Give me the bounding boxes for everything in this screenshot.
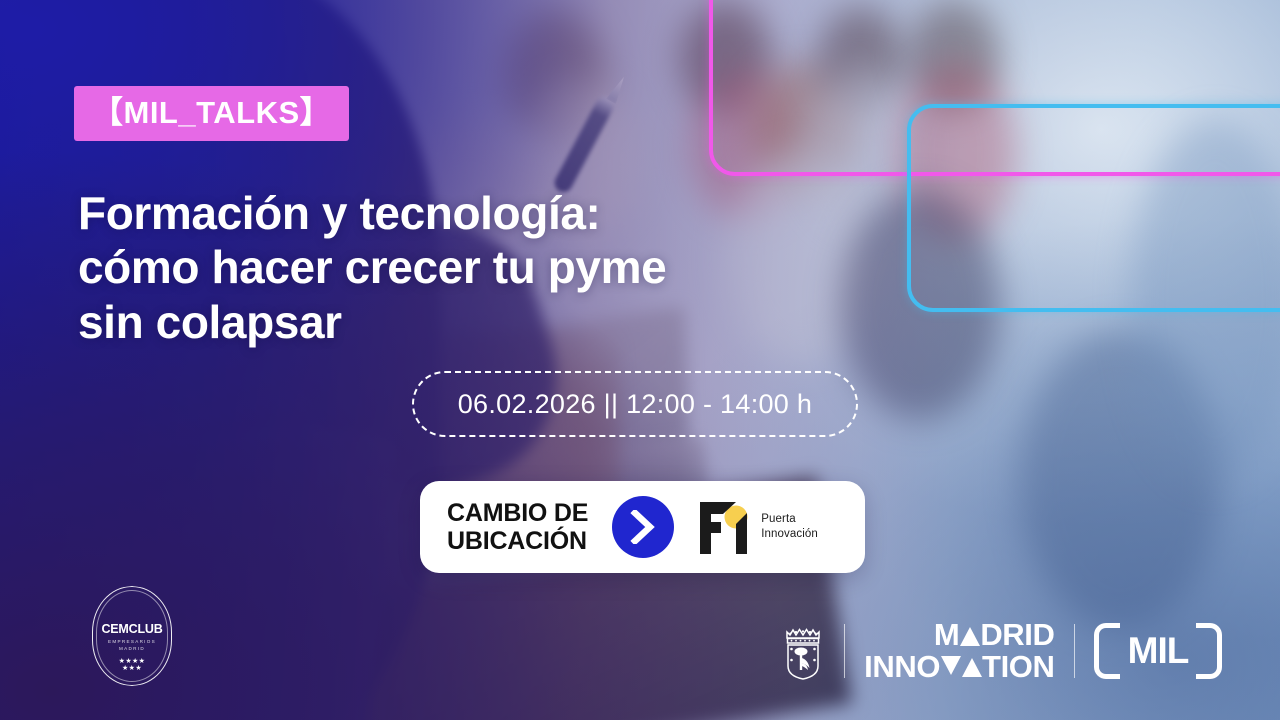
logo-divider (1074, 624, 1076, 678)
innovation-text-before: INNO (864, 651, 940, 683)
cemclub-name: CEMCLUB (92, 622, 172, 636)
location-change-card[interactable]: CAMBIO DE UBICACIÓN Puerta Innovaci (420, 481, 865, 573)
madrid-innovation-line-1: M DRID (864, 619, 1054, 651)
poster-title: Formación y tecnología: cómo hacer crece… (78, 186, 666, 349)
puerta-innovacion-mark-icon (696, 496, 754, 558)
date-time-pill: 06.02.2026 || 12:00 - 14:00 h (412, 371, 858, 437)
mil-talks-badge-label: 【MIL_TALKS】 (92, 97, 331, 128)
mil-talks-badge: 【MIL_TALKS】 (74, 86, 349, 141)
madrid-innovation-wordmark: M DRID INNO TION (864, 619, 1054, 683)
madrid-text-after: DRID (980, 619, 1054, 651)
cemclub-subtitle: EMPRESARIOS MADRID (92, 639, 172, 653)
cemclub-logo: CEMCLUB EMPRESARIOS MADRID ★★★★ ★★★ (92, 586, 172, 686)
institutional-logo-bar: M DRID INNO TION MIL (781, 612, 1222, 690)
triangle-up-icon (960, 627, 980, 646)
triangle-up-icon (962, 658, 982, 677)
puerta-innovacion-wordmark: Puerta Innovación (761, 512, 818, 542)
cemclub-stars: ★★★★ ★★★ (92, 658, 172, 672)
poster-content: 【MIL_TALKS】 Formación y tecnología: cómo… (0, 0, 1280, 720)
madrid-text-before: M (934, 619, 959, 651)
madrid-innovation-line-2: INNO TION (864, 651, 1054, 683)
madrid-coat-of-arms-icon (781, 622, 825, 680)
location-change-headline: CAMBIO DE UBICACIÓN (447, 499, 588, 555)
puerta-innovacion-logo: Puerta Innovación (696, 496, 818, 558)
logo-divider (844, 624, 846, 678)
triangle-down-icon (941, 656, 961, 675)
innovation-text-after: TION (982, 651, 1054, 683)
chevron-right-icon[interactable] (612, 496, 674, 558)
mil-logo-text: MIL (1094, 623, 1222, 679)
poster-canvas: 【MIL_TALKS】 Formación y tecnología: cómo… (0, 0, 1280, 720)
mil-logo: MIL (1094, 623, 1222, 679)
date-time-text: 06.02.2026 || 12:00 - 14:00 h (458, 389, 813, 420)
